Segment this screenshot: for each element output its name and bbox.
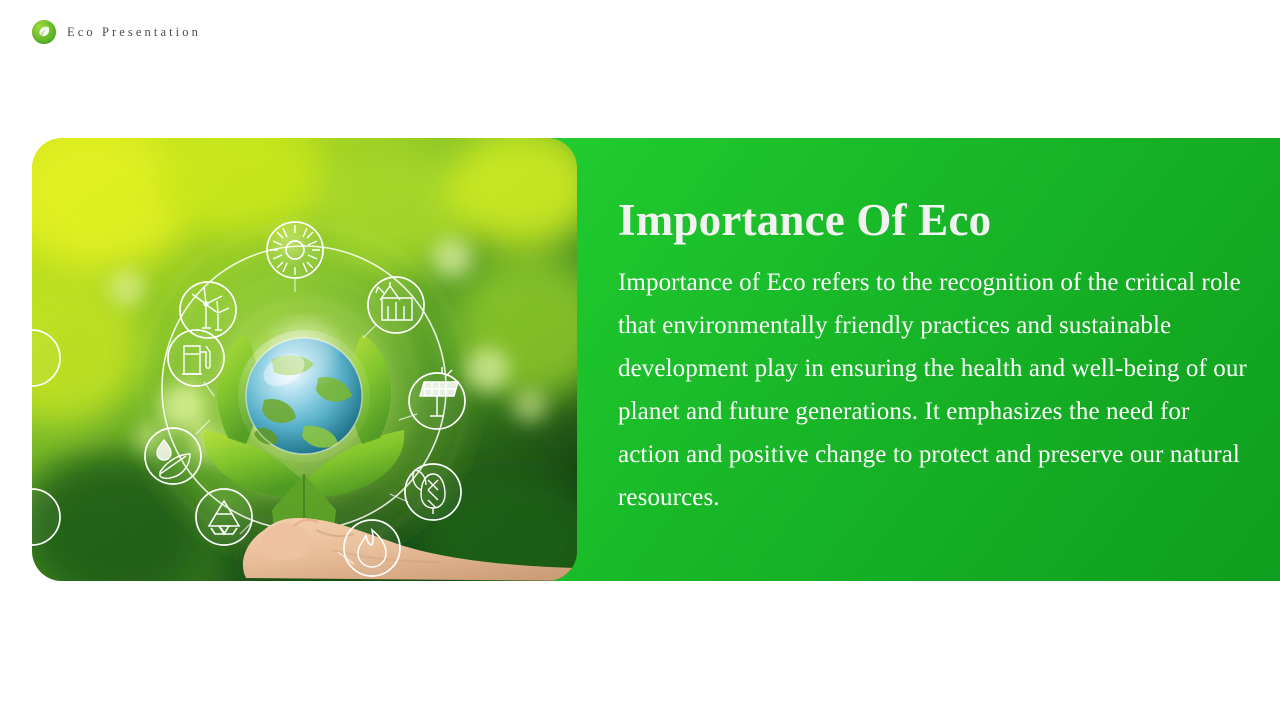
eco-photo-card — [32, 138, 577, 581]
slide-header: Eco Presentation — [32, 20, 201, 44]
page-title: Importance Of Eco — [618, 196, 1248, 245]
leaf-circle-icon — [32, 20, 56, 44]
slide-canvas: Eco Presentation — [0, 0, 1280, 720]
text-column: Importance Of Eco Importance of Eco refe… — [618, 196, 1248, 519]
brand-title: Eco Presentation — [67, 25, 201, 40]
body-paragraph: Importance of Eco refers to the recognit… — [618, 261, 1248, 519]
